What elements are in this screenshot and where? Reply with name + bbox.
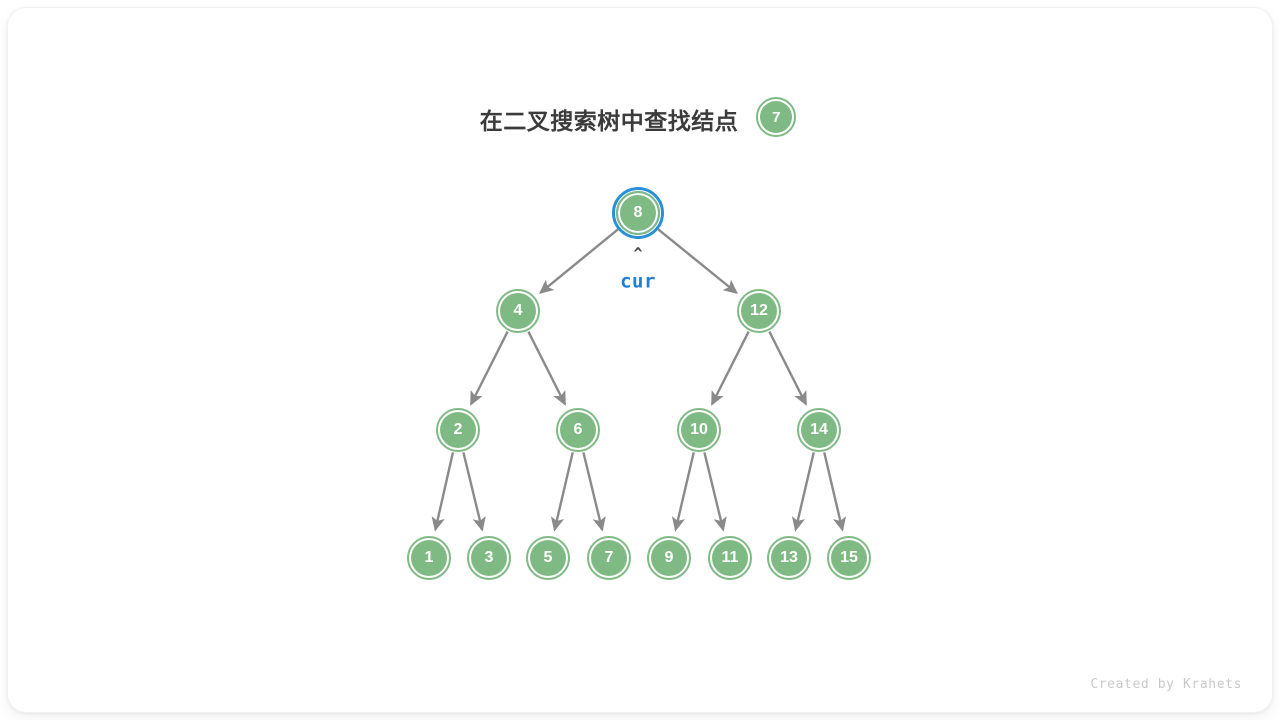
tree-edge-14-to-13 (796, 452, 814, 529)
tree-edge-10-to-11 (704, 452, 723, 529)
tree-node-15: 15 (827, 536, 871, 580)
tree-node-value: 1 (411, 540, 447, 576)
tree-node-value: 8 (620, 195, 656, 231)
tree-node-value: 10 (681, 412, 717, 448)
tree-node-3: 3 (467, 536, 511, 580)
tree-node-8: 8 (616, 191, 660, 235)
tree-node-value: 12 (741, 293, 777, 329)
tree-node-value: 15 (831, 540, 867, 576)
tree-node-value: 5 (530, 540, 566, 576)
tree-edge-12-to-14 (769, 332, 806, 405)
diagram-card: 在二叉搜索树中查找结点 7 841226101413579111315 ^ cu… (8, 8, 1272, 712)
tree-edge-6-to-5 (555, 452, 573, 529)
diagram-stage: 在二叉搜索树中查找结点 7 841226101413579111315 ^ cu… (8, 8, 1272, 712)
tree-node-13: 13 (767, 536, 811, 580)
tree-edge-12-to-10 (712, 332, 749, 405)
tree-node-value: 13 (771, 540, 807, 576)
tree-node-value: 6 (560, 412, 596, 448)
tree-edges-layer (8, 8, 1272, 712)
tree-node-value: 14 (801, 412, 837, 448)
tree-edge-2-to-3 (463, 452, 482, 529)
tree-edge-10-to-9 (676, 452, 694, 529)
tree-edge-14-to-15 (824, 452, 842, 529)
tree-node-4: 4 (496, 289, 540, 333)
tree-node-14: 14 (797, 408, 841, 452)
tree-node-value: 4 (500, 293, 536, 329)
tree-node-value: 9 (651, 540, 687, 576)
tree-node-6: 6 (556, 408, 600, 452)
tree-edge-2-to-1 (435, 452, 453, 529)
tree-edge-6-to-7 (583, 452, 602, 529)
tree-node-5: 5 (526, 536, 570, 580)
tree-edge-4-to-2 (471, 332, 508, 405)
tree-node-11: 11 (708, 536, 752, 580)
tree-node-value: 7 (591, 540, 627, 576)
tree-node-value: 3 (471, 540, 507, 576)
tree-node-12: 12 (737, 289, 781, 333)
tree-edge-8-to-12 (656, 227, 737, 292)
tree-node-value: 2 (440, 412, 476, 448)
credit-text: Created by Krahets (1090, 677, 1242, 692)
tree-edges-group (435, 227, 842, 529)
tree-node-2: 2 (436, 408, 480, 452)
tree-edge-4-to-6 (528, 332, 565, 405)
tree-node-9: 9 (647, 536, 691, 580)
tree-node-value: 11 (712, 540, 748, 576)
tree-edge-8-to-4 (540, 228, 620, 293)
tree-node-1: 1 (407, 536, 451, 580)
tree-node-7: 7 (587, 536, 631, 580)
tree-node-10: 10 (677, 408, 721, 452)
